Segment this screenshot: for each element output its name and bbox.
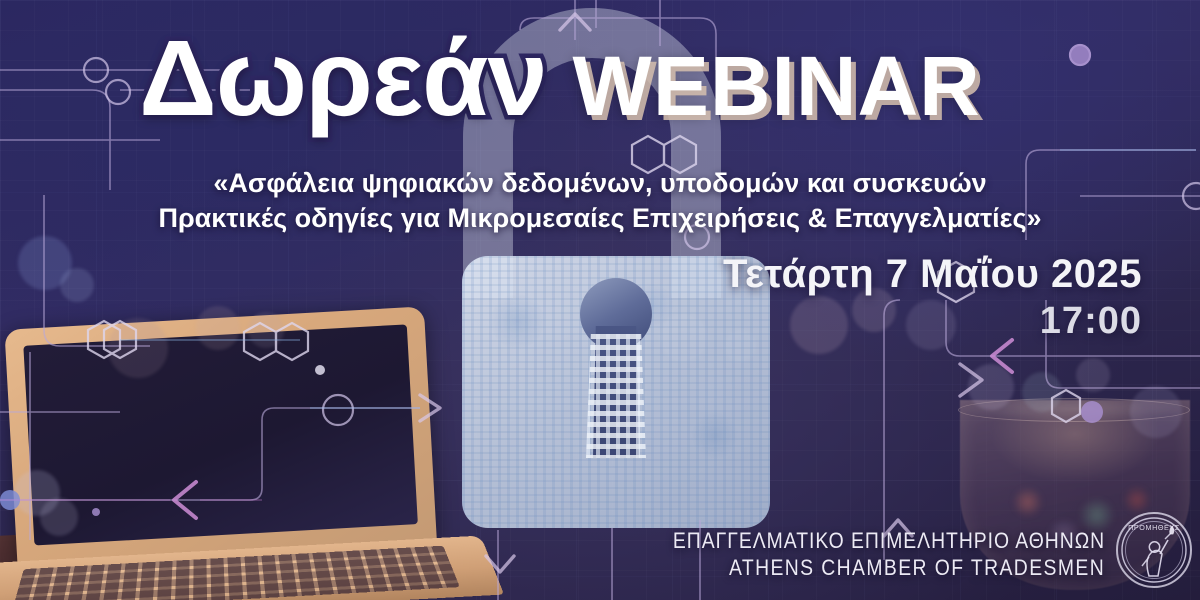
- subtitle-line-2: Πρακτικές οδηγίες για Μικρομεσαίες Επιχε…: [60, 201, 1140, 236]
- bokeh-light: [1076, 358, 1110, 392]
- prometheus-emblem-icon: ΠΡΟΜΗΘΕΥΣ: [1116, 512, 1192, 588]
- bokeh-light: [1022, 372, 1062, 412]
- bokeh-light: [40, 498, 78, 536]
- emblem-legend-text: ΠΡΟΜΗΘΕΥΣ: [1128, 523, 1180, 532]
- bokeh-light: [108, 318, 168, 378]
- event-time: 17:00: [1040, 300, 1142, 343]
- laptop-screen: [23, 324, 418, 545]
- subtitle-line-1: «Ασφάλεια ψηφιακών δεδομένων, υποδομών κ…: [60, 166, 1140, 201]
- title-free-word: Δωρεάν: [139, 24, 546, 132]
- bokeh-light: [248, 312, 284, 348]
- laptop-photo: [0, 286, 489, 600]
- event-date: Τετάρτη 7 Μαΐου 2025: [723, 252, 1142, 297]
- organization-name: ΕΠΑΓΓΕΛΜΑΤΙΚΟ ΕΠΙΜΕΛΗΤΗΡΙΟ ΑΘΗΝΩΝ ATHENS…: [614, 528, 1105, 582]
- organization-name-english: ATHENS CHAMBER OF TRADESMEN: [673, 555, 1105, 582]
- bokeh-light: [906, 300, 956, 350]
- bokeh-light: [1130, 386, 1182, 438]
- banner-title: Δωρεάν WEBINAR: [0, 24, 1120, 132]
- title-webinar-word: WEBINAR: [573, 44, 981, 128]
- banner-subtitle: «Ασφάλεια ψηφιακών δεδομένων, υποδομών κ…: [60, 166, 1140, 236]
- prometheus-emblem-svg: ΠΡΟΜΗΘΕΥΣ: [1118, 514, 1190, 586]
- padlock-keyhole-binary-fill: [586, 334, 646, 458]
- bokeh-light: [60, 268, 94, 302]
- webinar-promo-banner: Δωρεάν WEBINAR «Ασφάλεια ψηφιακών δεδομέ…: [0, 0, 1200, 600]
- bokeh-light: [196, 306, 240, 350]
- organization-name-greek: ΕΠΑΓΓΕΛΜΑΤΙΚΟ ΕΠΙΜΕΛΗΤΗΡΙΟ ΑΘΗΝΩΝ: [673, 528, 1105, 555]
- bokeh-light: [790, 296, 848, 354]
- bokeh-light: [968, 364, 1014, 410]
